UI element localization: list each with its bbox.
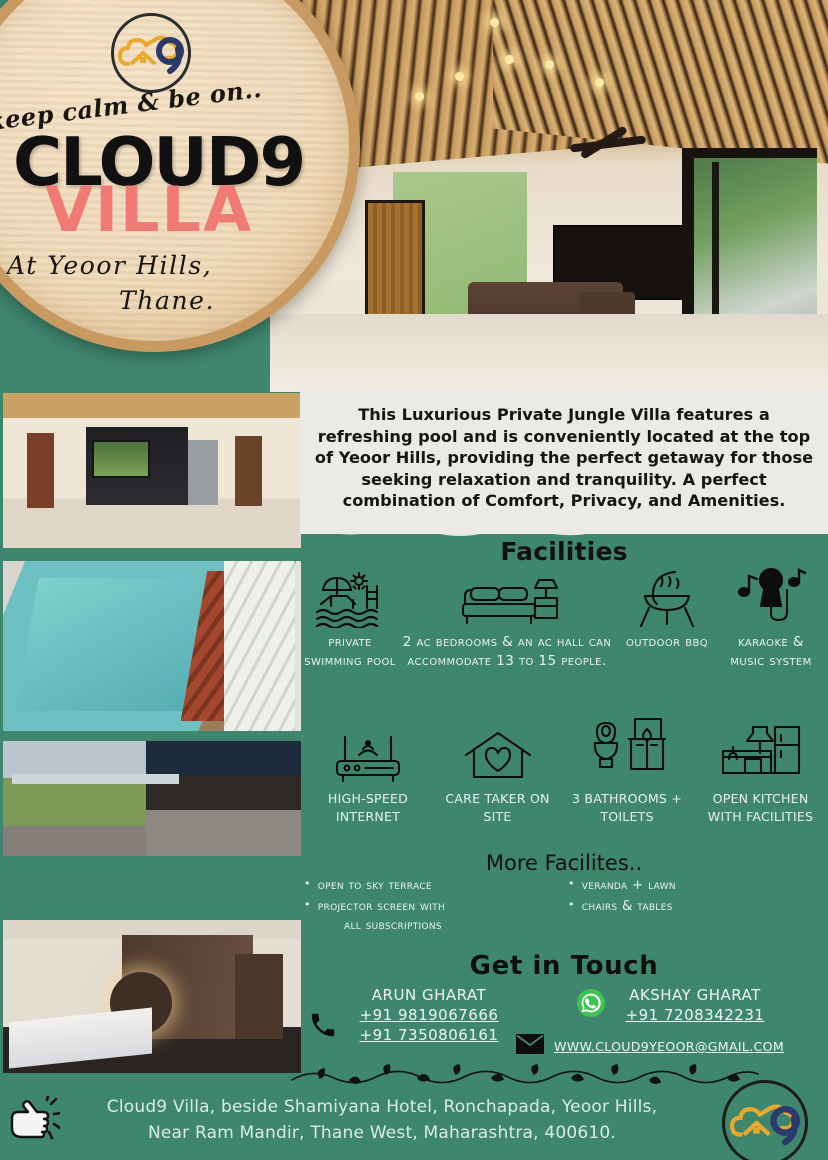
facility-ac-bedrooms: 2 AC Bedrooms & an AC Hall can accommoda… [398,566,616,672]
more-facilities-list: • Open to sky terrace • projector screen… [304,876,828,933]
more-facilities-title: More Facilites.. [300,851,828,875]
contact-phone-primary[interactable]: +91 9819067666 [304,1006,554,1024]
facility-caretaker: CARE TAKER ON SITE [434,723,561,826]
list-item-label: Veranda + Lawn [582,876,676,897]
footer-address: Cloud9 Villa, beside Shamiyana Hotel, Ro… [62,1094,702,1147]
contact-title: Get in Touch [300,951,828,981]
bullet-icon: • [568,897,575,914]
list-item: • Veranda + Lawn [568,876,828,897]
more-facilities-left-column: • Open to sky terrace • projector screen… [304,876,564,933]
facilities-row-2: HIGH-SPEED INTERNET CARE TAKER ON SITE [302,723,828,826]
pendant-lamp [490,18,499,27]
facility-open-kitchen: OPEN KITCHEN WITH FACILITIES [693,723,828,826]
facility-private-pool: Private swimming pool [302,566,398,672]
facility-karaoke-music: Karaoke & Music System [718,566,824,672]
vine-divider-decoration [290,1062,760,1088]
facilities-row-1: Private swimming pool 2 AC Bedrooms & an… [302,566,828,672]
ceiling-lamp [545,60,554,69]
wifi-router-icon [329,723,407,785]
facility-internet: HIGH-SPEED INTERNET [302,723,434,826]
facility-outdoor-bbq: Outdoor BBQ [616,566,718,652]
floor [270,314,828,392]
facility-label: HIGH-SPEED INTERNET [304,790,432,826]
facility-label: 2 AC Bedrooms & an AC Hall can accommoda… [400,633,614,672]
facility-bathrooms: 3 BATHROOMS + TOILETS [561,723,693,826]
contact-name: AKSHAY GHARAT [562,986,828,1004]
address-line-2: Near Ram Mandir, Thane West, Maharashtra… [62,1120,702,1146]
address-line-1: Cloud9 Villa, beside Shamiyana Hotel, Ro… [62,1094,702,1120]
facility-label: Outdoor BBQ [626,633,708,652]
microphone-music-icon [735,566,807,628]
photo-detail-planters [181,571,255,721]
ceiling-lamp [595,78,604,87]
bedroom-photo [3,920,301,1073]
toilet-bathroom-icon [587,723,667,785]
bullet-icon: • [304,897,311,914]
photo-detail-door [235,954,283,1040]
list-item-label: projector screen with [318,897,445,918]
facilities-title: Facilities [300,537,828,566]
facility-label: CARE TAKER ON SITE [436,790,559,826]
ceiling-lamp [455,72,464,81]
lawn-veranda-photo [3,741,301,856]
facility-label: Private swimming pool [304,633,396,672]
photo-detail-door-2 [235,436,262,506]
contact-email-row[interactable]: WWW.CLOUD9YEOOR@GMAIL.COM [516,1034,784,1059]
poster-root: keep calm & be on.. CLOUD9 VILLA At Yeoo… [0,0,828,1160]
pool-lounger-icon [315,566,385,628]
bullet-icon: • [568,876,575,893]
list-item: • Chairs & Tables [568,897,828,918]
facility-label: OPEN KITCHEN WITH FACILITIES [695,790,826,826]
cloud-house-9-logo-icon [111,13,191,93]
house-heart-icon [462,723,534,785]
list-item-continuation: all subscriptions [304,918,564,933]
description-text: This Luxurious Private Jungle Villa feat… [312,404,816,512]
photo-detail-arch-light [110,972,172,1034]
list-item: • Open to sky terrace [304,876,564,897]
ceiling-lamp [415,92,424,101]
brand-badge: keep calm & be on.. CLOUD9 VILLA At Yeoo… [0,0,360,352]
photo-detail-door [27,433,54,507]
list-item-label: Chairs & Tables [582,897,673,918]
list-item-label: Open to sky terrace [318,876,432,897]
swimming-pool-photo [3,561,301,731]
open-kitchen-icon [719,723,803,785]
contact-name: ARUN GHARAT [304,986,554,1004]
hero-section: keep calm & be on.. CLOUD9 VILLA At Yeoo… [0,0,828,392]
location-line-1: At Yeoor Hills, [7,251,212,280]
bbq-grill-icon [635,566,699,628]
kitchen-interior-photo [3,393,301,548]
bullet-icon: • [304,876,311,893]
facility-label: 3 BATHROOMS + TOILETS [563,790,691,826]
envelope-icon [516,1034,544,1059]
contact-email[interactable]: WWW.CLOUD9YEOOR@GMAIL.COM [554,1039,784,1054]
list-item: • projector screen with [304,897,564,918]
facility-label: Karaoke & Music System [720,633,822,672]
bed-icon [455,566,559,628]
description-panel: This Luxurious Private Jungle Villa feat… [300,388,828,534]
brand-subtitle: VILLA [45,173,253,246]
contact-phone-primary[interactable]: +91 7208342231 [562,1006,828,1024]
ceiling-lamp [505,55,514,64]
more-facilities-right-column: • Veranda + Lawn • Chairs & Tables [568,876,828,933]
pointing-hand-icon [6,1096,60,1149]
photo-detail-fridge [188,440,218,505]
cloud-house-9-logo-icon [722,1080,808,1160]
contact-card-akshay: AKSHAY GHARAT +91 7208342231 [562,986,828,1024]
location-line-2: Thane. [119,286,215,315]
